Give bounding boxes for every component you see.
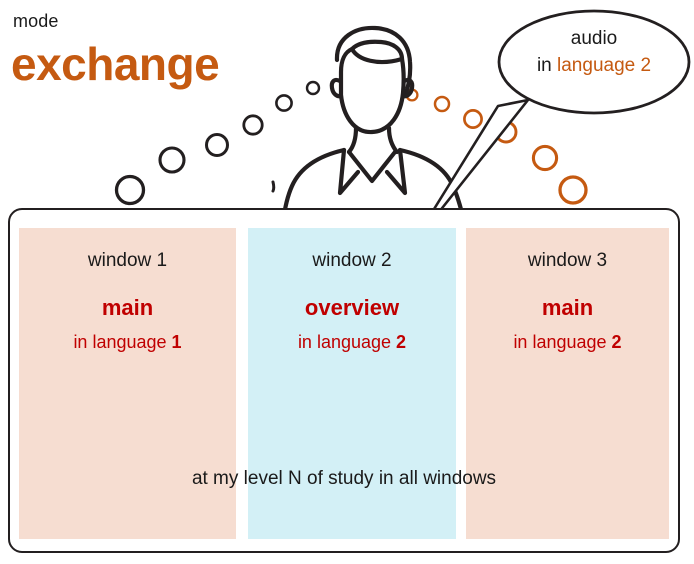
windows-container: window 1 main in language 1 window 2 ove… (8, 228, 680, 539)
window-1-language-prefix: in language (73, 332, 171, 352)
window-2-language-number: 2 (396, 332, 406, 352)
window-3-column[interactable]: window 3 main in language 2 (466, 228, 669, 539)
mode-label: mode (13, 10, 58, 32)
speech-bubble-line-1: audio (496, 25, 692, 52)
window-3-title: window 3 (466, 249, 669, 273)
speech-bubble-line-2-prefix: in (537, 55, 557, 76)
speech-bubble-text: audio in language 2 (496, 25, 692, 79)
window-3-language-number: 2 (612, 332, 622, 352)
window-3-mode: main (466, 294, 669, 322)
orange-circles-trail (407, 90, 586, 203)
footer-note: at my level N of study in all windows (8, 466, 680, 492)
window-2-column[interactable]: window 2 overview in language 2 (248, 228, 456, 539)
speech-bubble-line-2-accent: language 2 (557, 55, 651, 76)
window-1-mode: main (19, 294, 236, 322)
window-1-column[interactable]: window 1 main in language 1 (19, 228, 236, 539)
black-circles-trail (117, 82, 320, 204)
speech-bubble-line-2: in language 2 (496, 52, 692, 79)
window-1-language-number: 1 (172, 332, 182, 352)
window-3-language-prefix: in language (513, 332, 611, 352)
page-title: exchange (11, 36, 219, 92)
window-2-mode: overview (248, 294, 456, 322)
window-1-title: window 1 (19, 249, 236, 273)
window-2-language-prefix: in language (298, 332, 396, 352)
window-1-language: in language 1 (19, 330, 236, 354)
window-2-title: window 2 (248, 249, 456, 273)
window-2-language: in language 2 (248, 330, 456, 354)
window-3-language: in language 2 (466, 330, 669, 354)
